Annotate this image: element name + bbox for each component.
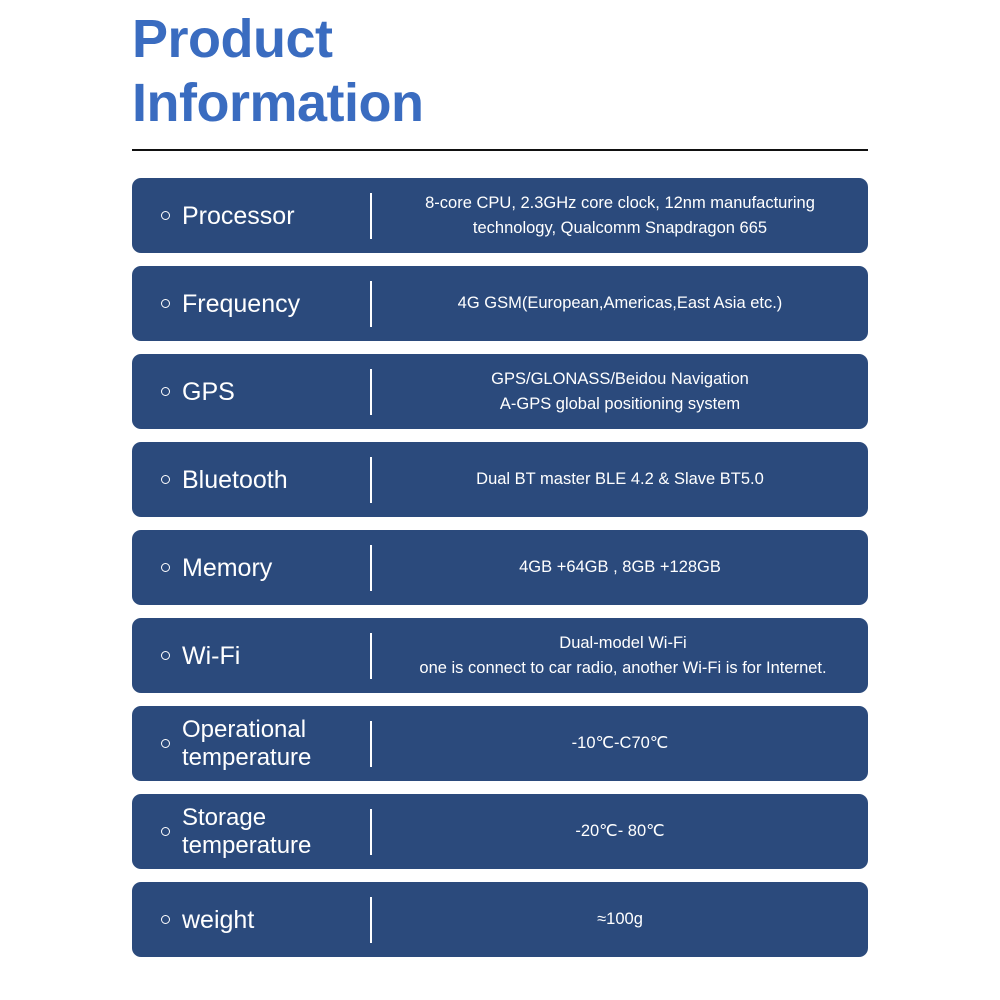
circle-bullet-icon bbox=[161, 827, 170, 836]
page-title-block: Product Information bbox=[132, 8, 872, 135]
spec-value: 8-core CPU, 2.3GHz core clock, 12nm manu… bbox=[425, 191, 815, 241]
spec-value: Dual BT master BLE 4.2 & Slave BT5.0 bbox=[476, 467, 764, 492]
spec-label: Memory bbox=[182, 554, 272, 582]
spec-value-cell: ≈100g bbox=[372, 882, 868, 957]
product-information-page: Product Information Processor8-core CPU,… bbox=[0, 0, 1000, 1000]
spec-label-cell: Processor bbox=[132, 178, 370, 253]
spec-row: Frequency4G GSM(European,Americas,East A… bbox=[132, 266, 868, 341]
title-divider-rule bbox=[132, 149, 868, 151]
circle-bullet-icon bbox=[161, 651, 170, 660]
circle-bullet-icon bbox=[161, 387, 170, 396]
spec-label: Processor bbox=[182, 202, 295, 230]
spec-row: BluetoothDual BT master BLE 4.2 & Slave … bbox=[132, 442, 868, 517]
circle-bullet-icon bbox=[161, 211, 170, 220]
spec-value-cell: GPS/GLONASS/Beidou Navigation A-GPS glob… bbox=[372, 354, 868, 429]
spec-row: Storage temperature-20℃- 80℃ bbox=[132, 794, 868, 869]
spec-value-cell: 8-core CPU, 2.3GHz core clock, 12nm manu… bbox=[372, 178, 868, 253]
spec-value: -20℃- 80℃ bbox=[575, 819, 664, 844]
spec-value-cell: Dual-model Wi-Fi one is connect to car r… bbox=[372, 618, 868, 693]
spec-label: Wi-Fi bbox=[182, 642, 240, 670]
spec-row: GPSGPS/GLONASS/Beidou Navigation A-GPS g… bbox=[132, 354, 868, 429]
spec-value-cell: 4GB +64GB , 8GB +128GB bbox=[372, 530, 868, 605]
spec-value-cell: -10℃-C70℃ bbox=[372, 706, 868, 781]
spec-row: Wi-FiDual-model Wi-Fi one is connect to … bbox=[132, 618, 868, 693]
spec-label-cell: GPS bbox=[132, 354, 370, 429]
circle-bullet-icon bbox=[161, 563, 170, 572]
spec-value-cell: Dual BT master BLE 4.2 & Slave BT5.0 bbox=[372, 442, 868, 517]
spec-label-cell: weight bbox=[132, 882, 370, 957]
spec-label: weight bbox=[182, 906, 254, 934]
spec-value: 4GB +64GB , 8GB +128GB bbox=[519, 555, 721, 580]
circle-bullet-icon bbox=[161, 915, 170, 924]
spec-label: GPS bbox=[182, 378, 235, 406]
circle-bullet-icon bbox=[161, 739, 170, 748]
spec-label-cell: Storage temperature bbox=[132, 794, 370, 869]
spec-label: Frequency bbox=[182, 290, 300, 318]
spec-value: ≈100g bbox=[597, 907, 643, 932]
spec-row: Memory4GB +64GB , 8GB +128GB bbox=[132, 530, 868, 605]
spec-label: Storage temperature bbox=[182, 804, 311, 859]
circle-bullet-icon bbox=[161, 299, 170, 308]
spec-label-cell: Operational temperature bbox=[132, 706, 370, 781]
spec-value-cell: 4G GSM(European,Americas,East Asia etc.) bbox=[372, 266, 868, 341]
spec-value-cell: -20℃- 80℃ bbox=[372, 794, 868, 869]
spec-list: Processor8-core CPU, 2.3GHz core clock, … bbox=[132, 178, 868, 970]
spec-row: weight≈100g bbox=[132, 882, 868, 957]
spec-row: Processor8-core CPU, 2.3GHz core clock, … bbox=[132, 178, 868, 253]
spec-value: Dual-model Wi-Fi one is connect to car r… bbox=[366, 631, 868, 681]
spec-value: -10℃-C70℃ bbox=[572, 731, 669, 756]
spec-label: Operational temperature bbox=[182, 716, 311, 771]
spec-value: GPS/GLONASS/Beidou Navigation A-GPS glob… bbox=[491, 367, 749, 417]
spec-label-cell: Bluetooth bbox=[132, 442, 370, 517]
spec-label-cell: Memory bbox=[132, 530, 370, 605]
spec-row: Operational temperature-10℃-C70℃ bbox=[132, 706, 868, 781]
circle-bullet-icon bbox=[161, 475, 170, 484]
spec-label-cell: Wi-Fi bbox=[132, 618, 370, 693]
page-title: Product Information bbox=[132, 8, 872, 135]
spec-label-cell: Frequency bbox=[132, 266, 370, 341]
spec-value: 4G GSM(European,Americas,East Asia etc.) bbox=[458, 291, 783, 316]
spec-label: Bluetooth bbox=[182, 466, 288, 494]
